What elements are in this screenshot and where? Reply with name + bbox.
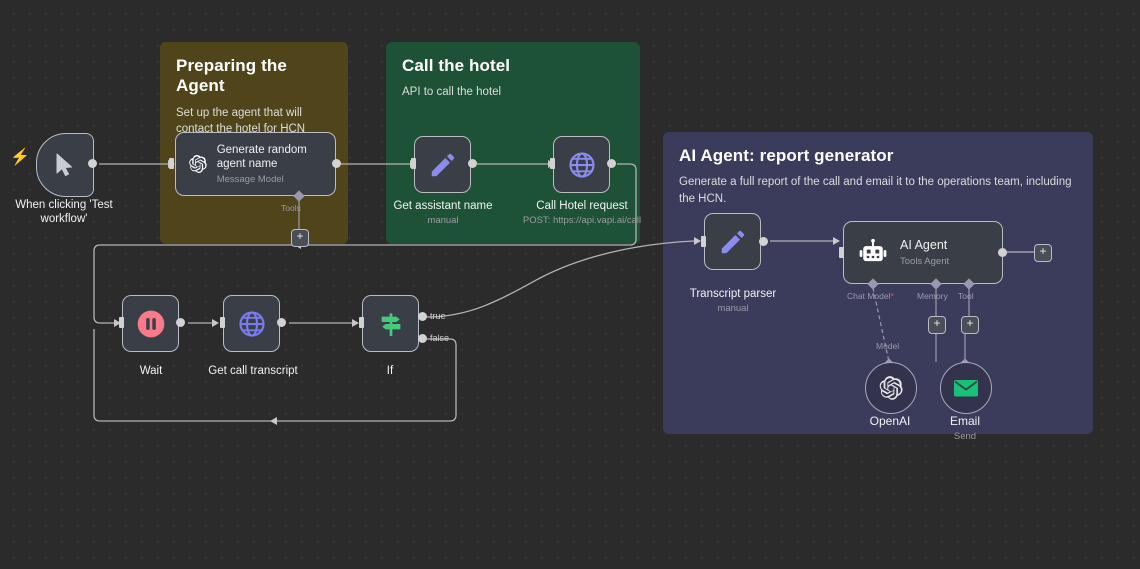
node-subtitle-ai-agent: Tools Agent	[900, 256, 949, 267]
port-out-trigger[interactable]	[88, 159, 97, 168]
port-in-transcript-parser[interactable]	[701, 236, 706, 247]
workflow-canvas[interactable]: Preparing the Agent Set up the agent tha…	[0, 0, 1140, 569]
openai-icon	[188, 150, 208, 178]
add-node-after-agent-button[interactable]: +	[1034, 244, 1052, 262]
port-in-get-assistant-name[interactable]	[411, 158, 416, 169]
node-label-get-call-transcript: Get call transcript	[193, 364, 313, 378]
port-in-call-hotel-request[interactable]	[550, 158, 555, 169]
node-label-text: Get assistant name	[393, 200, 492, 212]
port-in-if[interactable]	[359, 317, 364, 328]
pencil-icon	[718, 227, 748, 257]
lightning-bolt-icon: ⚡	[10, 150, 30, 166]
add-tool-button-prep[interactable]: +	[291, 229, 309, 247]
node-title-generate-random-agent-name: Generate random agent name	[217, 143, 325, 172]
branch-label-true: true	[430, 311, 446, 321]
required-asterisk: *	[890, 291, 893, 301]
node-label-if: If	[331, 364, 449, 378]
port-out-ai-agent[interactable]	[998, 248, 1007, 257]
sub-port-label-memory: Memory	[917, 291, 948, 301]
sub-port-label-tool: Tool	[958, 291, 974, 301]
node-get-call-transcript[interactable]	[223, 295, 280, 352]
port-out-if-true[interactable]	[418, 312, 427, 321]
node-subtitle-generate-random-agent-name: Message Model	[217, 174, 325, 185]
globe-icon	[237, 309, 267, 339]
sticky-note-body: API to call the hotel	[402, 84, 613, 101]
port-out-get-call-transcript[interactable]	[277, 318, 286, 327]
node-label-get-assistant-name: Get assistant name manual	[379, 199, 507, 227]
node-ai-agent[interactable]: AI Agent Tools Agent	[843, 221, 1003, 284]
port-out-get-assistant-name[interactable]	[468, 159, 477, 168]
port-in-generate-random-agent-name[interactable]	[169, 158, 174, 169]
node-title-ai-agent: AI Agent	[900, 238, 949, 254]
node-label-transcript-parser: Transcript parser manual	[668, 287, 798, 315]
node-label-text: Email	[950, 414, 980, 428]
node-label-call-hotel-request: Call Hotel request POST: https://api.vap…	[512, 199, 652, 227]
branch-label-false: false	[430, 333, 449, 343]
node-transcript-parser[interactable]	[704, 213, 761, 270]
envelope-icon	[952, 377, 980, 399]
sub-port-label-chat-model: Chat Model*	[847, 291, 894, 301]
sticky-note-title: AI Agent: report generator	[679, 146, 1077, 166]
sub-port-label-tools: Tools	[281, 203, 301, 213]
port-out-wait[interactable]	[176, 318, 185, 327]
node-when-clicking-test-workflow[interactable]	[36, 133, 94, 197]
node-sublabel-text: POST: https://api.vapi.ai/call	[512, 215, 652, 227]
globe-icon	[567, 150, 597, 180]
port-out-call-hotel-request[interactable]	[607, 159, 616, 168]
sub-port-label-model: Model	[876, 341, 899, 351]
sticky-note-body: Generate a full report of the call and e…	[679, 174, 1077, 207]
port-out-if-false[interactable]	[418, 334, 427, 343]
node-if[interactable]	[362, 295, 419, 352]
node-openai-chat-model[interactable]	[865, 362, 917, 414]
add-tool-button[interactable]: +	[961, 316, 979, 334]
port-out-transcript-parser[interactable]	[759, 237, 768, 246]
port-in-get-call-transcript[interactable]	[220, 317, 225, 328]
node-label-text: Transcript parser	[690, 288, 777, 300]
port-out-generate-random-agent-name[interactable]	[332, 159, 341, 168]
add-memory-button[interactable]: +	[928, 316, 946, 334]
node-sublabel-text: manual	[379, 215, 507, 227]
node-generate-random-agent-name[interactable]: Generate random agent name Message Model	[175, 132, 336, 196]
node-sublabel-text: manual	[668, 303, 798, 315]
cursor-icon	[55, 153, 75, 177]
port-in-ai-agent[interactable]	[839, 247, 844, 258]
port-in-wait[interactable]	[119, 317, 124, 328]
signpost-icon	[375, 308, 407, 340]
pencil-icon	[428, 150, 458, 180]
node-get-assistant-name[interactable]	[414, 136, 471, 193]
sticky-note-title: Call the hotel	[402, 56, 624, 76]
node-label-email: Email Send	[915, 414, 1015, 443]
node-label-trigger: When clicking 'Test workflow'	[0, 198, 128, 227]
node-wait[interactable]	[122, 295, 179, 352]
pause-icon	[135, 308, 167, 340]
node-email-send[interactable]	[940, 362, 992, 414]
node-call-hotel-request[interactable]	[553, 136, 610, 193]
sub-port-label-text: Chat Model	[847, 291, 890, 301]
sticky-note-title: Preparing the Agent	[176, 56, 332, 97]
node-label-text: Call Hotel request	[536, 200, 627, 212]
node-sublabel-text: Send	[915, 431, 1015, 443]
robot-icon	[858, 238, 888, 268]
openai-icon	[878, 375, 904, 401]
